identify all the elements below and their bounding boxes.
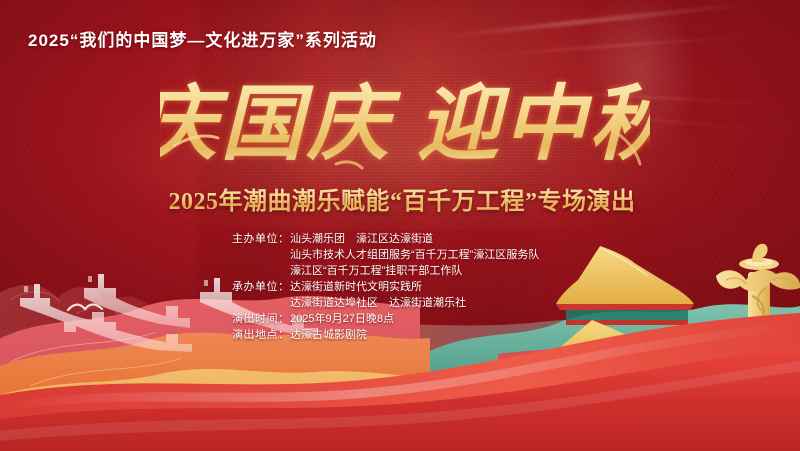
subtitle: 2025年潮曲潮乐赋能“百千万工程”专场演出 — [122, 181, 682, 216]
detail-row: 演出地点： 达濠古城影剧院 — [232, 327, 539, 343]
detail-row: 主办单位： 汕头潮乐团 濠江区达濠街道 汕头市技术人才组团服务“百千万工程”濠江… — [232, 231, 539, 279]
main-title-text: 庆国庆 迎中秋 — [160, 79, 650, 170]
detail-value: 汕头市技术人才组团服务“百千万工程”濠江区服务队 — [290, 247, 539, 263]
detail-label: 演出地点： — [232, 327, 290, 343]
detail-values: 汕头潮乐团 濠江区达濠街道 汕头市技术人才组团服务“百千万工程”濠江区服务队 濠… — [290, 231, 539, 279]
poster-canvas: 2025“我们的中国梦—文化进万家”系列活动 庆国庆 迎中秋 — [0, 0, 800, 451]
detail-values: 达濠街道新时代文明实践所 达濠街道达埠社区 达濠街道潮乐社 — [290, 279, 466, 311]
main-title-calligraphy: 庆国庆 迎中秋 — [160, 72, 650, 180]
main-title: 庆国庆 迎中秋 — [160, 72, 650, 180]
detail-values: 达濠古城影剧院 — [290, 327, 367, 343]
details-block: 主办单位： 汕头潮乐团 濠江区达濠街道 汕头市技术人才组团服务“百千万工程”濠江… — [232, 231, 539, 343]
detail-value: 2025年9月27日晚8点 — [290, 311, 394, 327]
detail-value: 达濠街道达埠社区 达濠街道潮乐社 — [290, 295, 466, 311]
top-activity-title: 2025“我们的中国梦—文化进万家”系列活动 — [28, 26, 377, 51]
detail-value: 达濠街道新时代文明实践所 — [290, 279, 466, 295]
detail-row: 承办单位： 达濠街道新时代文明实践所 达濠街道达埠社区 达濠街道潮乐社 — [232, 279, 539, 311]
detail-value: 濠江区“百千万工程”挂职干部工作队 — [290, 263, 539, 279]
detail-label: 主办单位： — [232, 231, 290, 247]
detail-row: 演出时间： 2025年9月27日晚8点 — [232, 311, 539, 327]
detail-label: 承办单位： — [232, 279, 290, 295]
detail-value: 达濠古城影剧院 — [290, 327, 367, 343]
detail-value: 汕头潮乐团 濠江区达濠街道 — [290, 231, 539, 247]
detail-values: 2025年9月27日晚8点 — [290, 311, 394, 327]
detail-label: 演出时间： — [232, 311, 290, 327]
